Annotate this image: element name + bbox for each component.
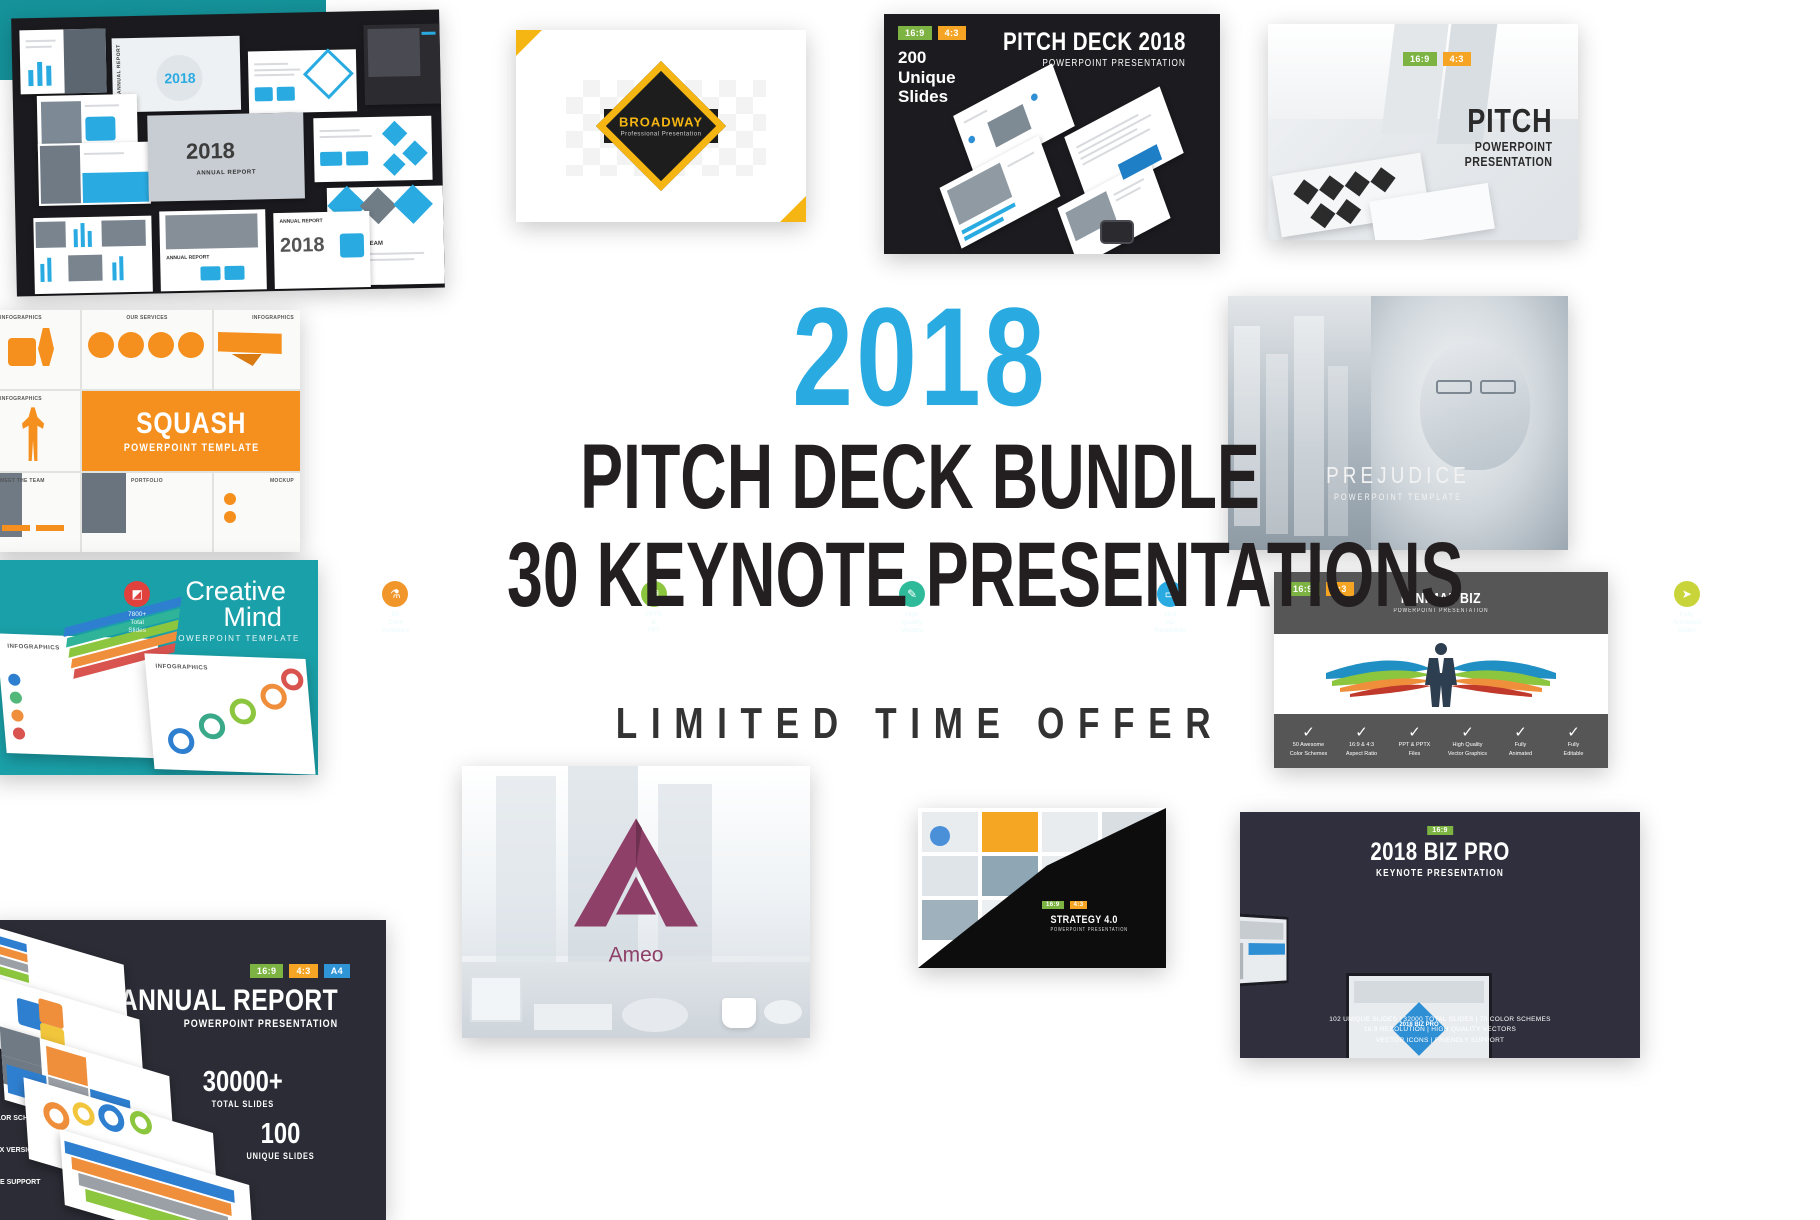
feature-line-2: Editable — [1547, 751, 1600, 758]
feature-line-3: Slides — [8, 627, 266, 635]
stat-unique-slides-number: 100 — [246, 1120, 314, 1149]
card-ameo[interactable]: Ameo — [462, 766, 810, 1038]
card-biz-pro[interactable]: 16:9 2018 BIZ PRO KEYNOTE PRESENTATION 2… — [1240, 812, 1640, 1058]
badge-4-3: 4:3 — [289, 964, 317, 978]
feature-line-1: 7800+ — [8, 611, 266, 619]
feature-line-2: Vector Graphics — [1441, 751, 1494, 758]
feature-line-1: Fully — [1547, 742, 1600, 749]
annual-side-note-3: FREE SUPPORT — [0, 1178, 40, 1187]
annual-report-subtitle: POWERPOINT PRESENTATION — [120, 1018, 338, 1030]
biz-pro-subtitle: KEYNOTE PRESENTATION — [1276, 868, 1604, 879]
features-strip: ◩ 7800+ Total Slides ⚗ 50 Color Schemes … — [0, 0, 326, 80]
stat-total-slides-number: 30000+ — [203, 1068, 283, 1097]
badge-16-9: 16:9 — [1042, 901, 1064, 909]
chart-icon: ◩ — [124, 581, 150, 607]
promo-stage: ANNUAL REPORT 2018 2018 ANN — [0, 0, 1820, 1214]
feature-line-2: Total — [8, 619, 266, 627]
headline-offer: LIMITED TIME OFFER — [448, 699, 1392, 749]
stat-total-slides-label: TOTAL SLIDES — [203, 1099, 283, 1109]
aspect-ratio-badges: 16:9 — [1427, 826, 1453, 835]
aspect-ratio-badges: 16:9 4:3 A4 — [250, 964, 350, 978]
annual-report-title: ANNUAL REPORT — [120, 984, 338, 1018]
biz-pro-title: 2018 BIZ PRO — [1276, 838, 1604, 867]
headline-line-1: PITCH DECK BUNDLE — [507, 431, 1333, 523]
biz-pro-spec-1: 102 UNIQUE SLIDES | 32000 TOTAL SLIDES |… — [1240, 1015, 1640, 1025]
minimal-biz-feature: ✓ Fully Editable — [1547, 725, 1600, 758]
biz-pro-spec-3: VECTOR ICONS | FRIENDLY SUPPORT — [1240, 1036, 1640, 1046]
biz-pro-spec-2: 16:9 RESOLUTION | HIGH QUALITY VECTORS — [1240, 1025, 1640, 1035]
aspect-ratio-badges: 16:9 4:3 — [1042, 901, 1087, 909]
card-annual-report-dark[interactable]: 16:9 4:3 A4 ANNUAL REPORT POWERPOINT PRE… — [0, 920, 386, 1220]
badge-4-3: 4:3 — [1070, 901, 1088, 909]
headline-block: 2018 PITCH DECK BUNDLE 30 KEYNOTE PRESEN… — [330, 290, 1510, 749]
strategy-subtitle: POWERPOINT PRESENTATION — [1050, 927, 1127, 933]
feature-line-2: Aspect Ratio — [1335, 751, 1388, 758]
badge-16-9: 16:9 — [1427, 826, 1453, 835]
ameo-wordmark: Ameo — [570, 944, 702, 968]
badge-a4: A4 — [324, 964, 350, 978]
check-icon: ✓ — [1547, 725, 1600, 740]
ameo-logo-icon — [570, 815, 702, 935]
strategy-title: STRATEGY 4.0 — [1050, 914, 1127, 926]
badge-16-9: 16:9 — [250, 964, 284, 978]
feature-line-2: Files — [1388, 751, 1441, 758]
headline-year: 2018 — [460, 290, 1380, 423]
card-strategy[interactable]: 16:9 4:3 STRATEGY 4.0 POWERPOINT PRESENT… — [918, 808, 1166, 968]
feature-line-2: Color Schemes — [1282, 751, 1335, 758]
headline-line-2: 30 KEYNOTE PRESENTATIONS — [507, 529, 1333, 621]
stat-unique-slides-label: UNIQUE SLIDES — [246, 1151, 314, 1161]
feature-item: ◩ 7800+ Total Slides — [8, 581, 266, 635]
cursor-icon: ➤ — [1674, 581, 1700, 607]
feature-line-2: Animated — [1494, 751, 1547, 758]
